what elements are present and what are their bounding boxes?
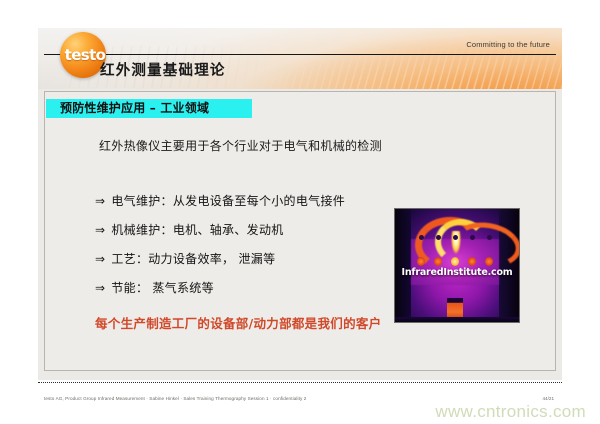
arrow-icon: ⇒ xyxy=(95,252,105,266)
list-item-text: 电气维护：从发电设备至每个小的电气接件 xyxy=(111,194,345,208)
list-item: ⇒电气维护：从发电设备至每个小的电气接件 xyxy=(95,192,440,209)
arrow-icon: ⇒ xyxy=(95,194,105,208)
arrow-icon: ⇒ xyxy=(95,223,105,237)
bullet-list: ⇒电气维护：从发电设备至每个小的电气接件 ⇒机械维护：电机、轴承、发动机 ⇒工艺… xyxy=(95,192,440,308)
arrow-icon: ⇒ xyxy=(95,281,105,295)
slide-header: testo Committing to the future 红外测量基础理论 xyxy=(38,28,562,89)
list-item: ⇒机械维护：电机、轴承、发动机 xyxy=(95,221,440,238)
list-item: ⇒工艺：动力设备效率， 泄漏等 xyxy=(95,250,440,267)
thermal-left-shadow xyxy=(395,209,411,322)
list-item-text: 工艺：动力设备效率， 泄漏等 xyxy=(111,252,275,266)
section-banner: 预防性维护应用 – 工业领域 xyxy=(46,99,252,118)
site-watermark: www.cntronics.com xyxy=(435,402,586,422)
thermal-base-element xyxy=(447,298,463,318)
thermal-image: InfraredInstitute.com xyxy=(395,209,519,322)
list-item-text: 机械维护：电机、轴承、发动机 xyxy=(111,223,283,237)
slide-title: 红外测量基础理论 xyxy=(100,59,226,80)
thermal-floor xyxy=(395,317,519,322)
list-item: ⇒节能： 蒸气系统等 xyxy=(95,279,440,296)
footer-credit: testo AG, Product Group Infrared Measure… xyxy=(44,396,306,401)
presentation-slide: testo Committing to the future 红外测量基础理论 … xyxy=(38,28,562,380)
footer-page-number: 44/21 xyxy=(543,396,555,401)
footer-divider xyxy=(38,382,562,383)
header-divider-rule xyxy=(44,54,556,55)
slide-content-area: 预防性维护应用 – 工业领域 红外热像仪主要用于各个行业对于电气和机械的检测 ⇒… xyxy=(44,91,556,371)
list-item-text: 节能： 蒸气系统等 xyxy=(111,281,214,295)
section-banner-label: 预防性维护应用 – 工业领域 xyxy=(46,99,252,118)
thermal-terminal-row-upper xyxy=(417,235,497,242)
brand-tagline: Committing to the future xyxy=(466,40,550,49)
lead-paragraph: 红外热像仪主要用于各个行业对于电气和机械的检测 xyxy=(99,137,449,154)
thermal-image-watermark: InfraredInstitute.com xyxy=(395,267,519,278)
